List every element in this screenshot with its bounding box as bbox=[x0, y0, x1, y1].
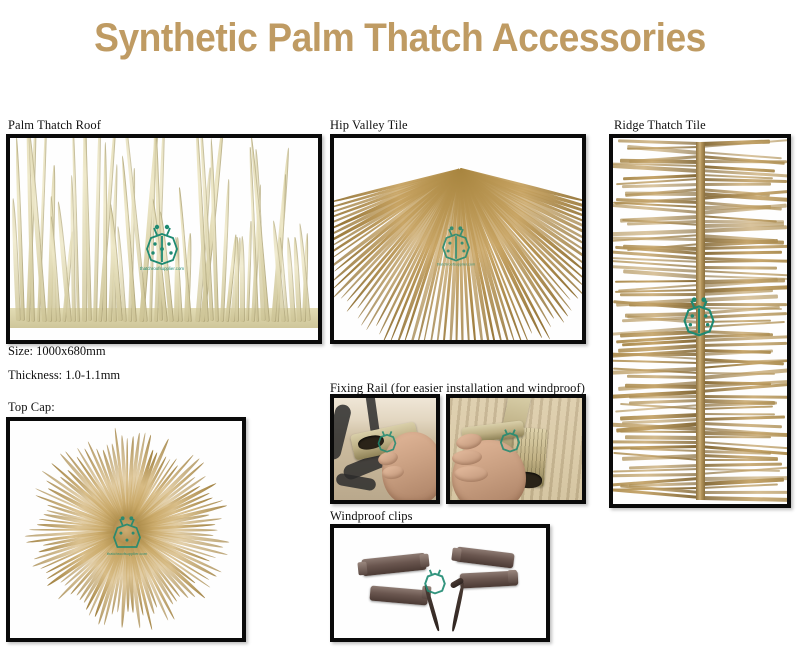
photo-fixing-rail-right[interactable] bbox=[446, 394, 586, 504]
thatch-frond bbox=[103, 142, 107, 322]
page-title: Synthetic Palm Thatch Accessories bbox=[28, 16, 772, 61]
ridge-blade bbox=[700, 160, 787, 163]
caption-ridge-thatch-tile: Ridge Thatch Tile bbox=[614, 118, 706, 133]
fixing-rail-left-image bbox=[334, 398, 436, 500]
ridge-blade bbox=[700, 462, 782, 466]
ridge-spine bbox=[696, 142, 705, 501]
windproof-clips-image bbox=[334, 528, 546, 638]
caption-top-cap: Top Cap: bbox=[8, 400, 55, 415]
ridge-blade bbox=[700, 342, 787, 347]
photo-ridge-thatch-tile[interactable] bbox=[609, 134, 791, 508]
ridge-blade bbox=[618, 139, 700, 144]
ridge-blade bbox=[700, 251, 782, 256]
ridge-blade bbox=[613, 360, 700, 365]
finger bbox=[454, 466, 488, 482]
spec-thickness: Thickness: 1.0-1.1mm bbox=[8, 368, 120, 383]
photo-fixing-rail-left[interactable] bbox=[330, 394, 440, 504]
photo-palm-thatch-roof[interactable]: thatchroofsupplier.com bbox=[6, 134, 322, 344]
thatch-frond bbox=[240, 236, 245, 322]
clip bbox=[455, 547, 514, 569]
ridge-blade bbox=[700, 491, 787, 494]
background-object bbox=[334, 403, 353, 461]
ridge-blade bbox=[700, 294, 778, 301]
top-cap-hub bbox=[113, 517, 139, 543]
ridge-blade bbox=[613, 440, 700, 443]
ridge-blade bbox=[613, 473, 700, 477]
wire-clip bbox=[423, 584, 440, 631]
ridge-blade bbox=[615, 280, 700, 283]
product-catalog-page: Synthetic Palm Thatch Accessories Palm T… bbox=[0, 0, 800, 655]
top-cap-image: thatchroofsupplier.com bbox=[10, 421, 242, 638]
photo-top-cap[interactable]: thatchroofsupplier.com bbox=[6, 417, 246, 642]
ridge-thatch-tile-image bbox=[613, 138, 787, 504]
hip-valley-tile-image: thatchroofsupplier.com bbox=[334, 138, 582, 340]
clip-tab bbox=[451, 548, 462, 562]
background-object bbox=[335, 473, 376, 492]
ridge-blade bbox=[620, 293, 700, 296]
ridge-blade bbox=[630, 447, 700, 451]
ridge-blade bbox=[625, 192, 700, 196]
ridge-blade bbox=[700, 303, 787, 306]
clip bbox=[361, 553, 426, 577]
palm-thatch-roof-image: thatchroofsupplier.com bbox=[10, 138, 318, 340]
ridge-blade bbox=[700, 183, 771, 186]
ridge-blade bbox=[620, 431, 700, 434]
ridge-blade bbox=[625, 435, 700, 440]
photo-windproof-clips[interactable] bbox=[330, 524, 550, 642]
wire-clip bbox=[451, 582, 465, 632]
ridge-blade bbox=[700, 496, 787, 501]
ridge-blade bbox=[629, 395, 700, 399]
ridge-blade bbox=[627, 375, 700, 379]
caption-windproof-clips: Windproof clips bbox=[330, 509, 413, 524]
ridge-blade bbox=[700, 395, 787, 399]
clip-tab bbox=[419, 554, 429, 568]
ridge-blade bbox=[700, 415, 785, 420]
clip-tab bbox=[357, 562, 367, 576]
caption-palm-thatch-roof: Palm Thatch Roof bbox=[8, 118, 101, 133]
photo-hip-valley-tile[interactable]: thatchroofsupplier.com bbox=[330, 134, 586, 344]
ridge-blade bbox=[700, 459, 778, 461]
clip bbox=[369, 586, 428, 606]
caption-hip-valley-tile: Hip Valley Tile bbox=[330, 118, 408, 133]
clip-tab bbox=[508, 570, 518, 583]
spec-size: Size: 1000x680mm bbox=[8, 344, 106, 359]
fixing-rail-right-image bbox=[450, 398, 582, 500]
ridge-blade bbox=[700, 260, 787, 263]
ridge-blade bbox=[700, 436, 771, 438]
ridge-blade bbox=[700, 245, 787, 250]
ridge-blade bbox=[700, 266, 777, 270]
